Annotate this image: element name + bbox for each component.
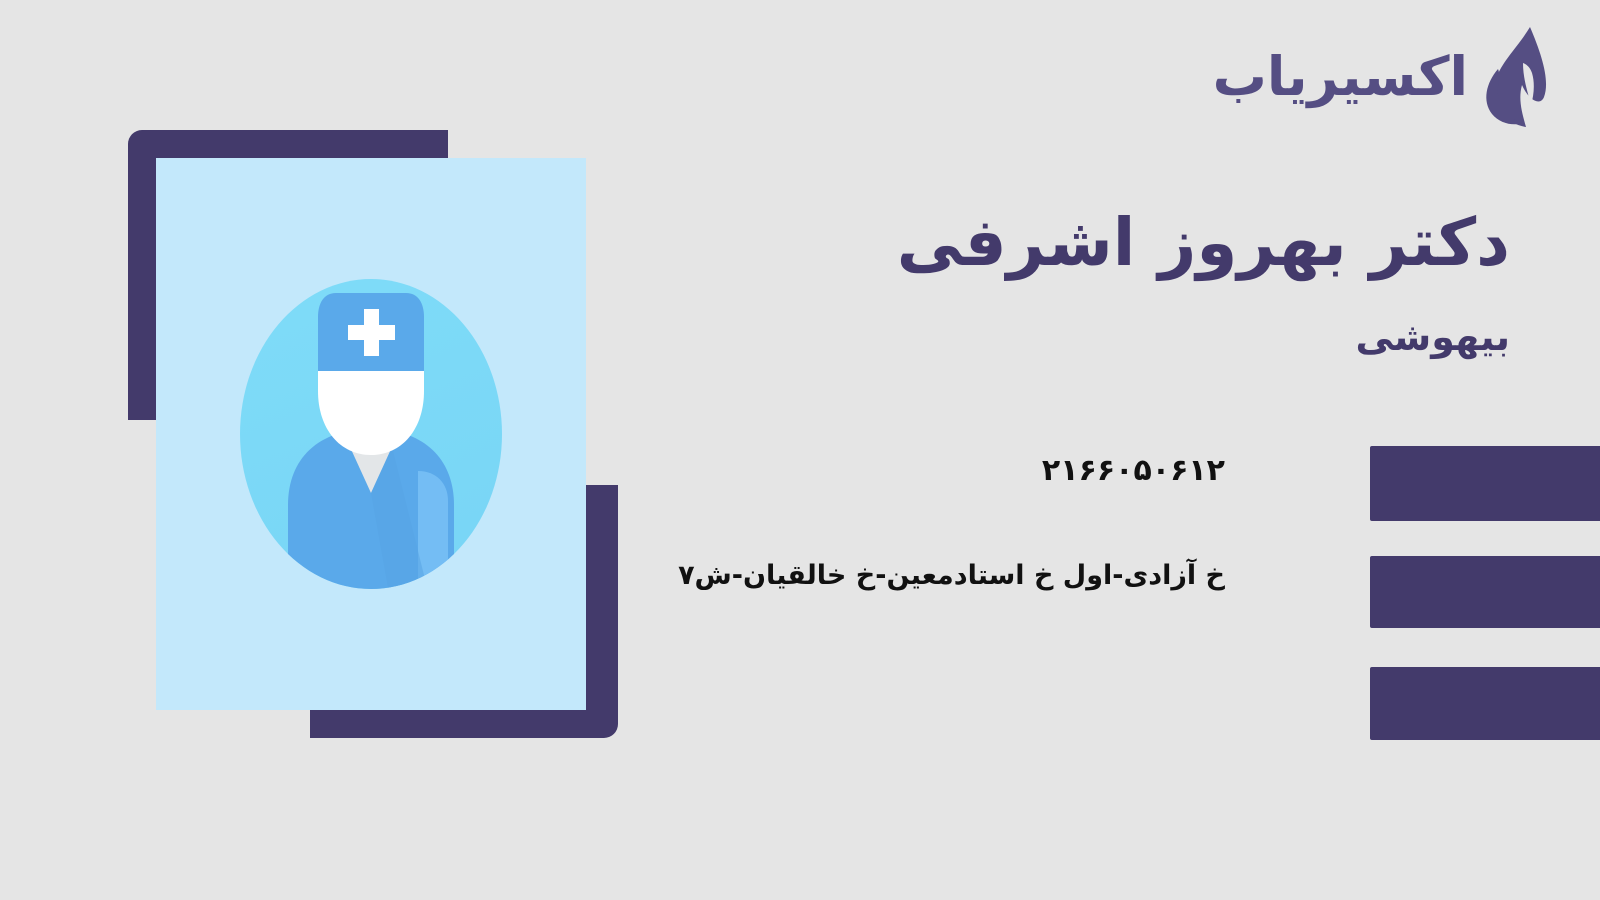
brand-name: اکسیریاب: [1213, 50, 1468, 104]
flame-icon: [1482, 25, 1560, 129]
brand-logo[interactable]: اکسیریاب: [1213, 22, 1560, 132]
decorative-bar-3: [1370, 667, 1600, 740]
doctor-avatar-icon: [240, 279, 502, 589]
doctor-address: خ آزادی-اول خ استادمعین-خ خالقیان-ش۷: [678, 560, 1225, 591]
profile-card-canvas: اکسیریاب: [0, 0, 1600, 900]
decorative-bar-2: [1370, 556, 1600, 628]
doctor-phone[interactable]: ۲۱۶۶۰۵۰۶۱۲: [1042, 453, 1225, 488]
page-title: دکتر بهروز اشرفی: [750, 205, 1510, 281]
doctor-specialty: بیهوشی: [750, 315, 1510, 361]
doctor-illustration: [128, 130, 618, 745]
decorative-bar-1: [1370, 446, 1600, 521]
doctor-info-block: دکتر بهروز اشرفی بیهوشی ۲۱۶۶۰۵۰۶۱۲ خ آزا…: [750, 205, 1510, 360]
doctor-photo-card: [156, 158, 586, 710]
